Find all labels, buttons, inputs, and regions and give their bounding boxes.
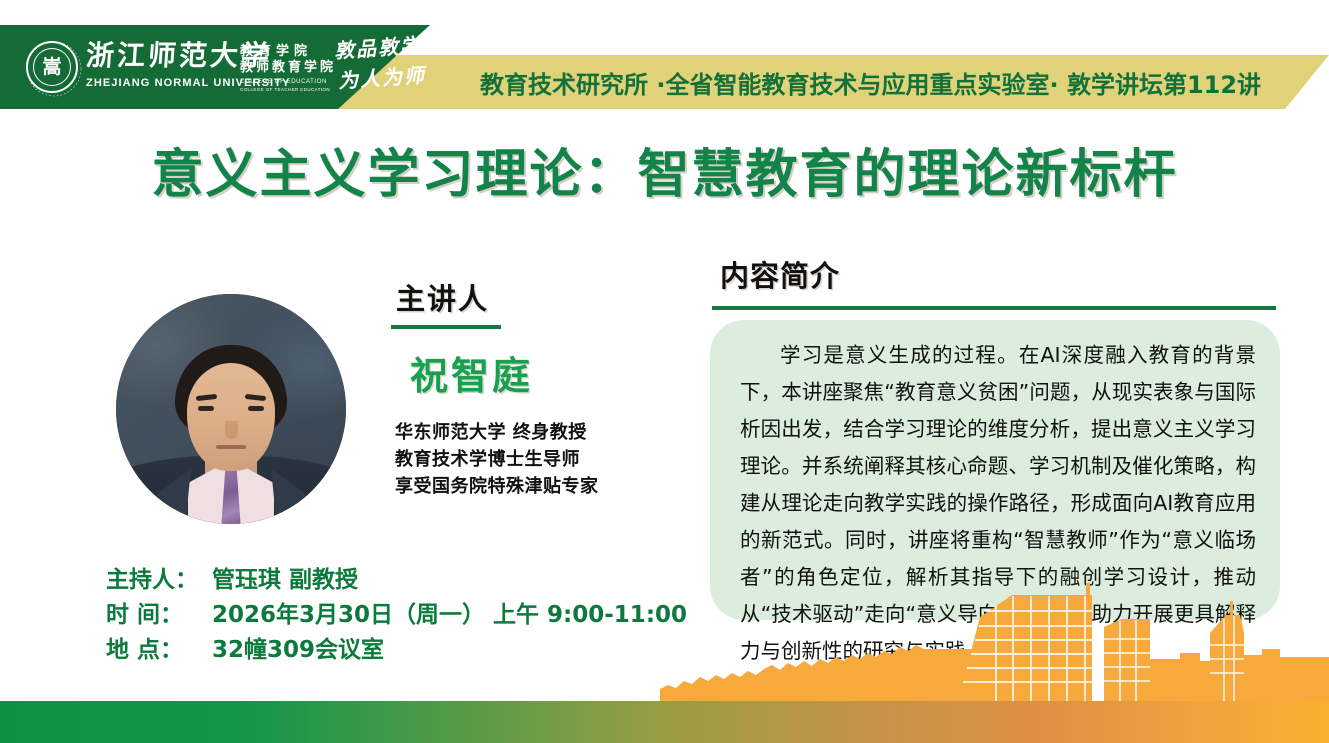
speaker-label-underline	[391, 325, 501, 329]
portrait-face	[187, 363, 275, 471]
portrait-eye-left	[198, 406, 214, 411]
abstract-heading: 内容简介	[720, 262, 840, 291]
speaker-name: 祝智庭	[410, 357, 533, 395]
portrait-eye-right	[248, 406, 264, 411]
college-name-cn-line2: 教师教育学院	[240, 60, 336, 75]
speaker-affiliation-line-2: 教育技术学博士生导师	[395, 446, 599, 473]
portrait-mouth	[216, 445, 246, 449]
banner-headline: 教育技术研究所 ·全省智能教育技术与应用重点实验室· 敦学讲坛第112讲	[480, 56, 1300, 108]
college-name-en-line1: COLLEGE OF EDUCATION	[240, 78, 327, 86]
speaker-role-label: 主讲人	[396, 285, 489, 314]
college-name-cn-line1: 教育学院	[240, 44, 312, 59]
header-banner: 嵩 浙江师范大学 ZHEJIANG NORMAL UNIVERSITY 教育学院…	[0, 0, 1329, 130]
page-title: 意义主义学习理论：智慧教育的理论新标杆	[0, 144, 1329, 206]
motto-line-2: 为人为师	[337, 65, 426, 91]
portrait-nose	[225, 421, 238, 439]
seal-glyph: 嵩	[28, 43, 76, 91]
abstract-heading-underline	[712, 306, 1276, 310]
university-seal-icon: 嵩	[26, 41, 78, 93]
speaker-portrait	[116, 294, 346, 524]
college-name-en-line2: COLLEGE OF TEACHER EDUCATION	[240, 86, 330, 93]
speaker-affiliation-line-3: 享受国务院特殊津贴专家	[395, 473, 599, 500]
speaker-affiliation-line-1: 华东师范大学 终身教授	[395, 419, 599, 446]
motto-line-1: 敦品敦学	[333, 35, 422, 61]
speaker-affiliation: 华东师范大学 终身教授 教育技术学博士生导师 享受国务院特殊津贴专家	[395, 419, 599, 500]
poster-root: 嵩 浙江师范大学 ZHEJIANG NORMAL UNIVERSITY 教育学院…	[0, 0, 1329, 743]
cityscape-silhouette-icon	[0, 581, 1329, 701]
footer-gradient-band	[0, 701, 1329, 743]
